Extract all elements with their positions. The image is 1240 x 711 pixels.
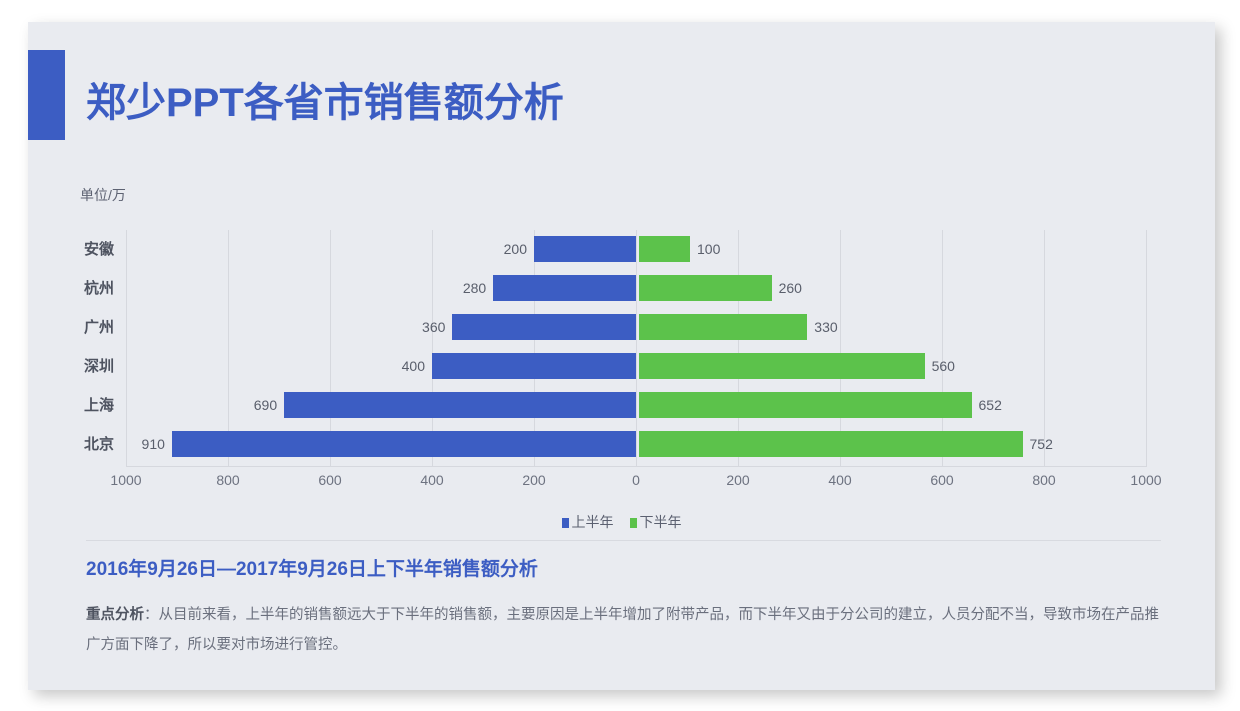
value-label-right-北京: 752 [1030, 436, 1053, 452]
bar-right-北京 [639, 431, 1023, 457]
bar-left-安徽 [534, 236, 636, 262]
value-label-left-杭州: 280 [463, 280, 486, 296]
analysis-label: 重点分析 [86, 607, 144, 623]
value-label-right-深圳: 560 [932, 358, 955, 374]
bar-left-北京 [172, 431, 636, 457]
legend-label: 上半年 [572, 514, 614, 530]
chart-plot-area: 安徽200100杭州280260广州360330深圳400560上海690652… [126, 230, 1146, 467]
x-tick-0-5: 0 [632, 472, 640, 488]
bar-left-上海 [284, 392, 636, 418]
slide-card: 郑少PPT各省市销售额分析 单位/万 安徽200100杭州280260广州360… [28, 22, 1215, 690]
x-tick-600-2: 600 [318, 472, 341, 488]
legend-item-上半年[interactable]: 上半年 [562, 512, 614, 532]
bar-right-安徽 [639, 236, 690, 262]
x-tick-1000-10: 1000 [1130, 472, 1161, 488]
page-title: 郑少PPT各省市销售额分析 [86, 70, 564, 128]
value-label-left-安徽: 200 [504, 241, 527, 257]
x-tick-800-9: 800 [1032, 472, 1055, 488]
x-tick-400-7: 400 [828, 472, 851, 488]
chart-row: 上海690652 [126, 386, 1146, 425]
footer-divider [86, 540, 1161, 541]
bar-right-深圳 [639, 353, 925, 379]
value-label-left-深圳: 400 [402, 358, 425, 374]
bar-right-广州 [639, 314, 807, 340]
title-accent-bar [28, 50, 65, 140]
footer-analysis-text: 重点分析：从目前来看，上半年的销售额远大于下半年的销售额，主要原因是上半年增加了… [86, 600, 1171, 660]
bar-left-杭州 [493, 275, 636, 301]
legend-swatch-icon [562, 518, 569, 528]
chart-row: 北京910752 [126, 425, 1146, 464]
x-tick-200-6: 200 [726, 472, 749, 488]
category-label: 杭州 [26, 269, 114, 308]
x-tick-800-1: 800 [216, 472, 239, 488]
slide-canvas: 郑少PPT各省市销售额分析 单位/万 安徽200100杭州280260广州360… [0, 0, 1240, 711]
value-label-right-上海: 652 [979, 397, 1002, 413]
x-tick-200-4: 200 [522, 472, 545, 488]
chart-row: 深圳400560 [126, 347, 1146, 386]
legend-item-下半年[interactable]: 下半年 [630, 512, 682, 532]
x-tick-1000-0: 1000 [110, 472, 141, 488]
value-label-left-上海: 690 [254, 397, 277, 413]
category-label: 安徽 [26, 230, 114, 269]
value-label-right-广州: 330 [814, 319, 837, 335]
value-label-left-北京: 910 [142, 436, 165, 452]
analysis-body: ：从目前来看，上半年的销售额远大于下半年的销售额，主要原因是上半年增加了附带产品… [86, 607, 1159, 653]
diverging-bar-chart: 安徽200100杭州280260广州360330深圳400560上海690652… [28, 222, 1215, 522]
chart-legend: 上半年下半年 [28, 512, 1215, 532]
bar-left-深圳 [432, 353, 636, 379]
footer-subtitle: 2016年9月26日—2017年9月26日上下半年销售额分析 [86, 554, 538, 581]
bar-right-上海 [639, 392, 972, 418]
category-label: 上海 [26, 386, 114, 425]
value-label-right-杭州: 260 [779, 280, 802, 296]
category-label: 深圳 [26, 347, 114, 386]
x-tick-600-8: 600 [930, 472, 953, 488]
bar-right-杭州 [639, 275, 772, 301]
bar-left-广州 [452, 314, 636, 340]
chart-row: 广州360330 [126, 308, 1146, 347]
value-label-right-安徽: 100 [697, 241, 720, 257]
x-tick-400-3: 400 [420, 472, 443, 488]
value-label-left-广州: 360 [422, 319, 445, 335]
chart-row: 安徽200100 [126, 230, 1146, 269]
chart-row: 杭州280260 [126, 269, 1146, 308]
legend-label: 下半年 [640, 514, 682, 530]
legend-swatch-icon [630, 518, 637, 528]
gridline-1000 [1146, 230, 1147, 467]
chart-unit-label: 单位/万 [80, 185, 126, 205]
category-label: 广州 [26, 308, 114, 347]
category-label: 北京 [26, 425, 114, 464]
